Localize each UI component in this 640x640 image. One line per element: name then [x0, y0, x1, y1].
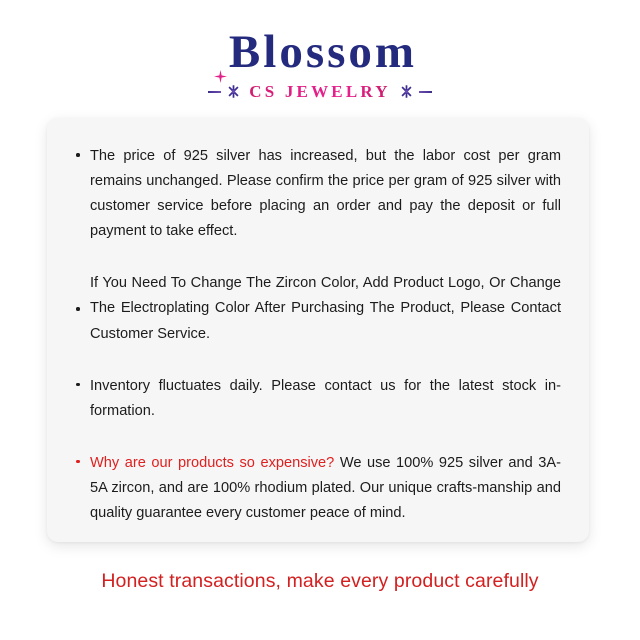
notice-bullet-text: The price of 925 silver has increased, b…: [90, 148, 561, 239]
snowflake-ornament-icon-left: [226, 84, 241, 99]
bullet-dot-icon: [76, 307, 80, 311]
bullet-dot-icon: [76, 153, 80, 157]
notice-bullet-item: The price of 925 silver has increased, b…: [75, 144, 561, 244]
bullet-dot-icon: [76, 383, 80, 387]
notice-bullet-text: If You Need To Change The Zircon Color, …: [90, 275, 561, 341]
notice-bullet-item: If You Need To Change The Zircon Color, …: [75, 271, 561, 346]
brand-logo: Blossom CS JEWELRY: [0, 28, 640, 102]
brand-subtitle-row: CS JEWELRY: [0, 82, 640, 102]
snowflake-ornament-icon-right: [399, 84, 414, 99]
brand-subtitle-text: CS JEWELRY: [246, 82, 393, 102]
diamond-sparkle-icon: [214, 44, 227, 57]
bullet-dot-icon: [76, 460, 80, 464]
notice-bullet-list: The price of 925 silver has increased, b…: [75, 144, 561, 526]
right-rule-dash: [419, 91, 432, 93]
notice-bullet-item-highlight: Why are our products so expensive? We us…: [75, 451, 561, 526]
notice-bullet-question: Why are our products so expensive?: [90, 455, 334, 471]
brand-wordmark-text: Blossom: [229, 26, 417, 78]
left-rule-dash: [208, 91, 221, 93]
notice-page: Blossom CS JEWELRY: [0, 0, 640, 640]
footer-tagline: Honest transactions, make every product …: [0, 570, 640, 593]
notice-bullet-text: Inventory fluctuates daily. Please conta…: [90, 378, 561, 419]
notice-bullet-item: Inventory fluctuates daily. Please conta…: [75, 374, 561, 424]
brand-wordmark-container: Blossom: [223, 28, 417, 77]
notice-card: The price of 925 silver has increased, b…: [47, 118, 589, 542]
